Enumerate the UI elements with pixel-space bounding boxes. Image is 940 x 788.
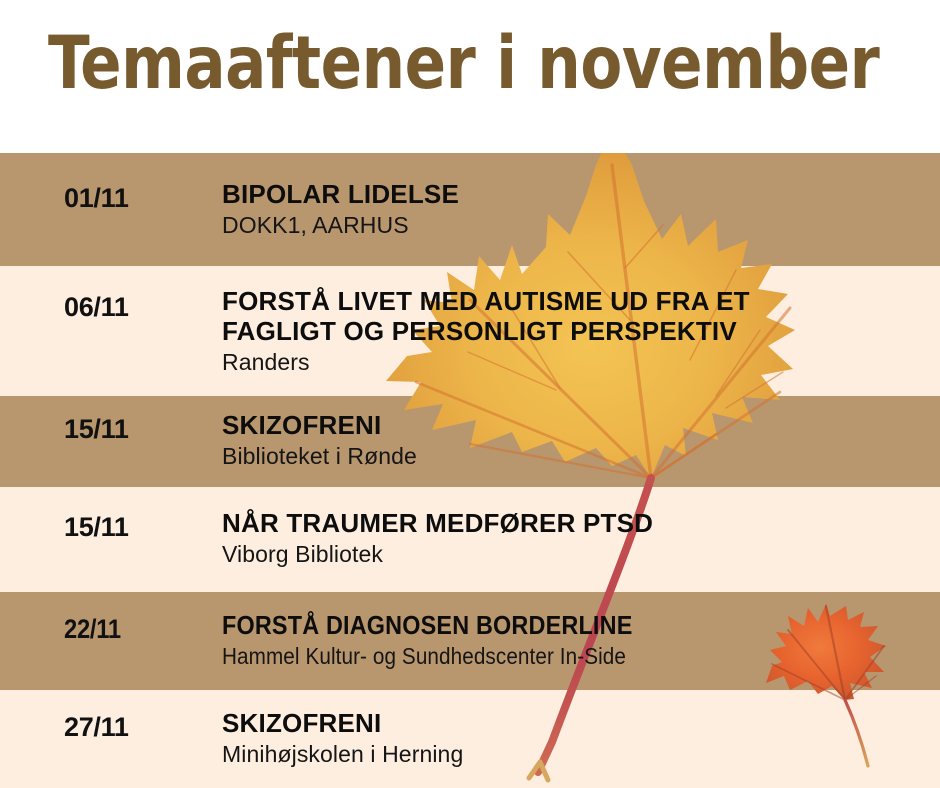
- event-title: BIPOLAR LIDELSE: [222, 179, 922, 209]
- event-title: NÅR TRAUMER MEDFØRER PTSD: [222, 508, 922, 538]
- event-venue: DOKK1, AARHUS: [222, 212, 922, 240]
- event-body: NÅR TRAUMER MEDFØRER PTSD Viborg Bibliot…: [222, 508, 922, 569]
- event-title: SKIZOFRENI: [222, 708, 922, 738]
- event-date: 22/11: [64, 614, 121, 645]
- event-row-2[interactable]: 06/11 FORSTÅ LIVET MED AUTISME UD FRA ET…: [0, 266, 940, 396]
- event-date: 15/11: [64, 414, 129, 445]
- event-body: SKIZOFRENI Biblioteket i Rønde: [222, 410, 922, 471]
- event-row-6[interactable]: 27/11 SKIZOFRENI Minihøjskolen i Herning: [0, 690, 940, 788]
- event-row-4[interactable]: 15/11 NÅR TRAUMER MEDFØRER PTSD Viborg B…: [0, 487, 940, 592]
- event-venue: Biblioteket i Rønde: [222, 443, 922, 471]
- event-date: 06/11: [64, 292, 129, 323]
- event-venue: Minihøjskolen i Herning: [222, 741, 922, 769]
- title-area: Temaaftener i november: [0, 0, 940, 153]
- event-body: BIPOLAR LIDELSE DOKK1, AARHUS: [222, 179, 922, 240]
- event-venue: Randers: [222, 349, 922, 377]
- event-venue: Hammel Kultur- og Sundhedscenter In-Side: [222, 643, 852, 671]
- event-venue: Viborg Bibliotek: [222, 541, 922, 569]
- event-poster: Temaaftener i november 01/11 BIPOLAR LID…: [0, 0, 940, 788]
- event-body: SKIZOFRENI Minihøjskolen i Herning: [222, 708, 922, 769]
- event-title: SKIZOFRENI: [222, 410, 922, 440]
- event-date: 15/11: [64, 512, 129, 543]
- event-title: FORSTÅ LIVET MED AUTISME UD FRA ET FAGLI…: [222, 286, 922, 346]
- event-date: 01/11: [64, 183, 129, 214]
- event-row-1[interactable]: 01/11 BIPOLAR LIDELSE DOKK1, AARHUS: [0, 153, 940, 266]
- event-row-5[interactable]: 22/11 FORSTÅ DIAGNOSEN BORDERLINE Hammel…: [0, 592, 940, 690]
- event-row-3[interactable]: 15/11 SKIZOFRENI Biblioteket i Rønde: [0, 396, 940, 487]
- event-body: FORSTÅ DIAGNOSEN BORDERLINE Hammel Kultu…: [222, 610, 922, 671]
- event-title: FORSTÅ DIAGNOSEN BORDERLINE: [222, 610, 852, 640]
- event-body: FORSTÅ LIVET MED AUTISME UD FRA ET FAGLI…: [222, 286, 922, 377]
- page-title: Temaaftener i november: [48, 27, 879, 100]
- event-date: 27/11: [64, 712, 129, 743]
